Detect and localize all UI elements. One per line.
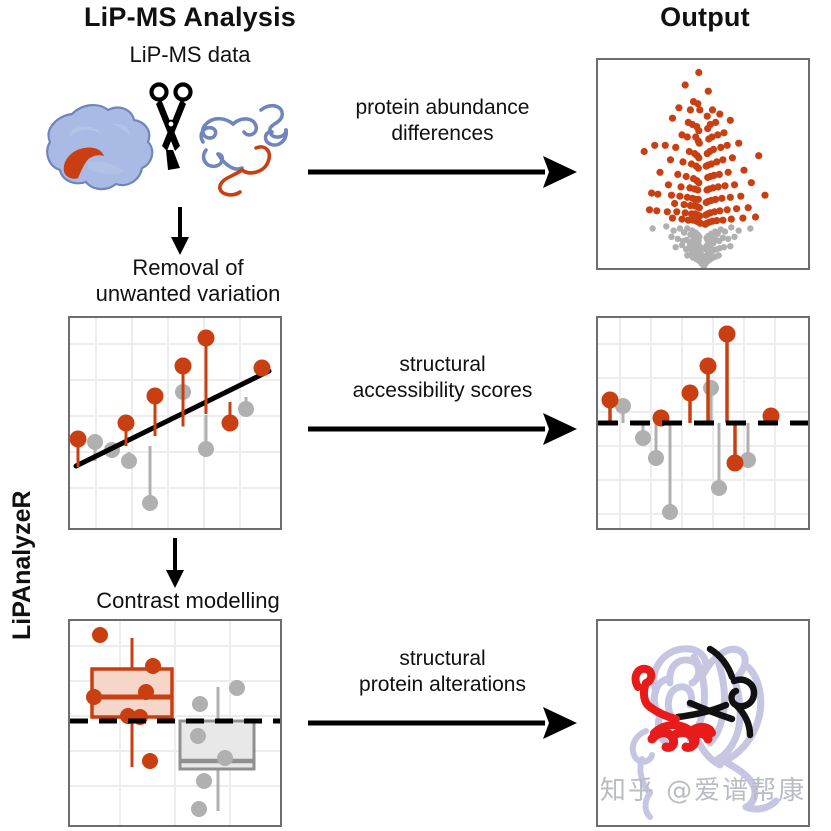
volcano-point (679, 158, 686, 165)
volcano-point (687, 106, 694, 113)
volcano-point (731, 234, 737, 240)
volcano-point (648, 190, 655, 197)
volcano-point (681, 201, 688, 208)
pipeline-title-lipanalyzer: LiPAnalyzeR (8, 490, 37, 640)
volcano-point (729, 154, 736, 161)
volcano-point (669, 115, 676, 122)
accessibility-plot-svg (598, 318, 808, 528)
volcano-point (705, 88, 712, 95)
volcano-point (702, 211, 709, 218)
volcano-point (651, 142, 658, 149)
volcano-point (695, 165, 702, 172)
volcano-point (748, 179, 755, 186)
volcano-point (731, 181, 738, 188)
volcano-significant-points (641, 69, 769, 228)
contrast-plot-svg (70, 621, 280, 825)
arrow-3-icon (305, 703, 580, 743)
removal-unwanted-variation-label: Removal of unwanted variation (38, 255, 338, 307)
volcano-point (728, 224, 734, 230)
volcano-point (665, 181, 672, 188)
volcano-point (702, 221, 709, 228)
volcano-nonsignificant-points (649, 223, 753, 268)
contrast-modelling-panel[interactable] (68, 619, 282, 827)
volcano-point (684, 133, 691, 140)
volcano-point (705, 135, 712, 142)
volcano-point (670, 227, 676, 233)
volcano-point (694, 186, 701, 193)
arrow-structural-accessibility-scores: structural accessibility scores (305, 352, 580, 452)
volcano-point (703, 199, 710, 206)
orange-points (602, 326, 780, 472)
volcano-point (668, 234, 674, 240)
volcano-point (718, 195, 725, 202)
right-column-title: Output (585, 2, 825, 33)
arrow-1-line1: protein abundance (305, 95, 580, 121)
watermark-text: 知乎 @爱谱帮康 (600, 776, 806, 806)
volcano-point (719, 156, 726, 163)
lip-ms-data-label: LiP-MS data (45, 42, 335, 68)
volcano-point (716, 111, 723, 118)
volcano-point (695, 69, 702, 76)
volcano-point (703, 163, 710, 170)
arrow-2-line2: accessibility scores (305, 378, 580, 404)
volcano-plot-panel[interactable] (596, 58, 810, 270)
volcano-point (727, 117, 734, 124)
volcano-point (667, 156, 674, 163)
volcano-point (761, 192, 768, 199)
arrow-2-icon (305, 409, 580, 449)
protein-structure-panel[interactable]: 知乎 @爱谱帮康 (596, 619, 810, 827)
arrow-3-label: structural protein alterations (305, 646, 580, 697)
peptide-orange-icon (220, 147, 269, 195)
removal-plot-svg (70, 318, 280, 528)
lip-ms-illustration (28, 80, 328, 220)
volcano-point (704, 125, 711, 132)
volcano-point (654, 191, 661, 198)
volcano-point (696, 234, 702, 240)
volcano-point (736, 227, 742, 233)
volcano-point (672, 144, 679, 151)
volcano-point (668, 192, 675, 199)
volcano-point (662, 142, 669, 149)
volcano-point (721, 182, 728, 189)
left-column-title: LiP-MS Analysis (45, 2, 335, 33)
down-arrow-1-icon (160, 205, 200, 257)
volcano-point (682, 209, 689, 216)
volcano-point (733, 205, 740, 212)
volcano-point (656, 169, 663, 176)
volcano-point (739, 215, 746, 222)
volcano-point (724, 206, 731, 213)
volcano-point (696, 140, 703, 147)
volcano-point (695, 196, 702, 203)
volcano-point (669, 215, 676, 222)
volcano-point (725, 236, 731, 242)
volcano-point (745, 204, 752, 211)
arrow-2-line1: structural (305, 352, 580, 378)
arrow-1-icon (305, 152, 580, 192)
volcano-point (695, 154, 702, 161)
volcano-point (727, 243, 733, 249)
volcano-point (740, 167, 747, 174)
volcano-point (752, 213, 759, 220)
volcano-point (720, 129, 727, 136)
volcano-point (725, 169, 732, 176)
volcano-point (676, 193, 683, 200)
volcano-point (724, 142, 731, 149)
volcano-point (702, 244, 708, 250)
volcano-point (678, 216, 685, 223)
volcano-point (683, 173, 690, 180)
gridlines (70, 318, 280, 528)
removal-label-line1: Removal of (38, 255, 338, 281)
arrow-3-line2: protein alterations (305, 672, 580, 698)
volcano-point (674, 171, 681, 178)
volcano-point (727, 194, 734, 201)
volcano-point (704, 174, 711, 181)
removal-unwanted-variation-panel[interactable] (68, 316, 282, 530)
arrow-1-line2: differences (305, 121, 580, 147)
volcano-plot-svg (598, 60, 808, 268)
volcano-point (649, 225, 655, 231)
volcano-point (663, 223, 669, 229)
volcano-point (653, 207, 660, 214)
arrow-structural-protein-alterations: structural protein alterations (305, 646, 580, 746)
volcano-point (664, 208, 671, 215)
folded-protein-icon (47, 105, 152, 189)
gray-stems (623, 388, 748, 512)
volcano-point (682, 81, 689, 88)
volcano-point (719, 217, 726, 224)
volcano-point (675, 104, 682, 111)
volcano-point (696, 204, 703, 211)
scissors-icon (152, 85, 191, 171)
volcano-point (695, 127, 702, 134)
volcano-point (703, 186, 710, 193)
volcano-point (671, 200, 678, 207)
unfolded-peptides-icon (201, 106, 286, 169)
down-arrow-2-icon (155, 538, 195, 590)
protein-cartoon-svg: 知乎 @爱谱帮康 (598, 621, 808, 825)
volcano-point (641, 148, 648, 155)
arrow-1-label: protein abundance differences (305, 95, 580, 146)
volcano-point (709, 106, 716, 113)
volcano-point (704, 150, 711, 157)
volcano-point (728, 216, 735, 223)
volcano-point (755, 152, 762, 159)
removal-label-line2: unwanted variation (38, 281, 338, 307)
contrast-modelling-label: Contrast modelling (38, 588, 338, 614)
volcano-point (673, 244, 679, 250)
volcano-point (677, 183, 684, 190)
volcano-point (737, 193, 744, 200)
arrow-2-label: structural accessibility scores (305, 352, 580, 403)
arrow-3-line1: structural (305, 646, 580, 672)
volcano-point (717, 144, 724, 151)
volcano-point (695, 179, 702, 186)
volcano-point (673, 208, 680, 215)
volcano-point (735, 140, 742, 147)
structural-accessibility-panel[interactable] (596, 316, 810, 530)
arrow-protein-abundance-differences: protein abundance differences (305, 95, 580, 195)
volcano-point (747, 225, 753, 231)
volcano-point (694, 100, 701, 107)
volcano-point (696, 106, 703, 113)
volcano-point (646, 206, 653, 213)
volcano-point (704, 113, 711, 120)
